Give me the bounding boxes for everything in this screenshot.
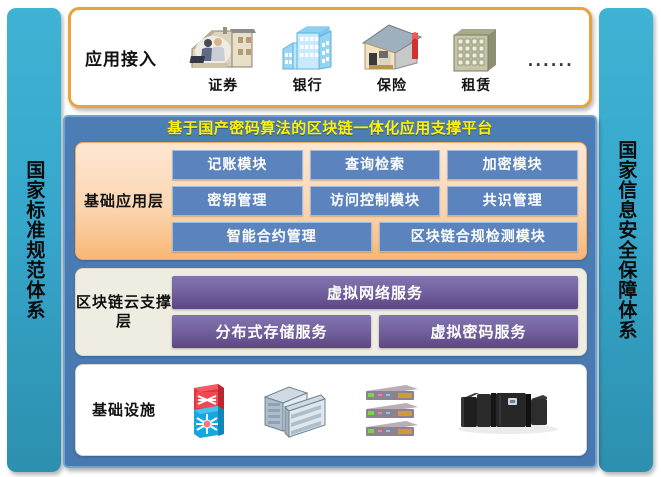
module-query-search[interactable]: 查询检索 bbox=[310, 150, 441, 180]
module-row: 记账模块 查询检索 加密模块 bbox=[172, 150, 578, 180]
layer-basic-application-modules: 记账模块 查询检索 加密模块 密钥管理 访问控制模块 共识管理 智能合约管理 区… bbox=[172, 150, 586, 252]
app-items-ellipsis: ······ bbox=[519, 56, 583, 74]
module-smart-contract-management[interactable]: 智能合约管理 bbox=[172, 222, 372, 252]
application-access-label: 应用接入 bbox=[85, 45, 181, 70]
app-item-securities[interactable]: 证券 bbox=[181, 21, 265, 95]
service-row: 虚拟网络服务 bbox=[172, 276, 578, 309]
module-key-management[interactable]: 密钥管理 bbox=[172, 186, 303, 216]
platform-container: 基于国产密码算法的区块链一体化应用支撑平台 基础应用层 记账模块 查询检索 加密… bbox=[63, 115, 597, 468]
module-accounting[interactable]: 记账模块 bbox=[172, 150, 303, 180]
app-item-label: 保险 bbox=[377, 75, 407, 95]
app-item-label: 租赁 bbox=[461, 75, 491, 95]
insurance-house-icon bbox=[357, 21, 427, 73]
leasing-building-icon bbox=[444, 21, 508, 73]
architecture-diagram: 国家标准规范体系 国家信息安全保障体系 应用接入 bbox=[0, 0, 661, 477]
app-item-label: 证券 bbox=[208, 75, 238, 95]
application-access-card: 应用接入 bbox=[68, 7, 592, 108]
app-item-insurance[interactable]: 保险 bbox=[350, 21, 434, 95]
layer-infrastructure-label: 基础设施 bbox=[76, 401, 172, 420]
sidebar-national-standards: 国家标准规范体系 bbox=[7, 8, 61, 472]
module-blockchain-compliance-detection[interactable]: 区块链合规检测模块 bbox=[379, 222, 579, 252]
module-consensus-management[interactable]: 共识管理 bbox=[447, 186, 578, 216]
layer-blockchain-cloud-support: 区块链云支撑层 虚拟网络服务 分布式存储服务 虚拟密码服务 bbox=[75, 268, 587, 356]
service-virtual-network[interactable]: 虚拟网络服务 bbox=[172, 276, 578, 309]
service-distributed-storage[interactable]: 分布式存储服务 bbox=[172, 315, 371, 348]
service-row: 分布式存储服务 虚拟密码服务 bbox=[172, 315, 578, 348]
sidebar-left-label: 国家标准规范体系 bbox=[7, 8, 61, 472]
app-item-label: 银行 bbox=[293, 75, 323, 95]
stacked-servers-icon bbox=[362, 381, 422, 439]
app-item-bank[interactable]: 银行 bbox=[266, 21, 350, 95]
service-virtual-cryptography[interactable]: 虚拟密码服务 bbox=[379, 315, 578, 348]
sidebar-information-security: 国家信息安全保障体系 bbox=[599, 8, 653, 472]
module-row: 密钥管理 访问控制模块 共识管理 bbox=[172, 186, 578, 216]
app-item-leasing[interactable]: 租赁 bbox=[434, 21, 518, 95]
server-rack-icon bbox=[259, 381, 331, 439]
sidebar-right-label: 国家信息安全保障体系 bbox=[599, 8, 653, 472]
application-access-items: 证券 bbox=[181, 21, 589, 95]
layer-basic-application: 基础应用层 记账模块 查询检索 加密模块 密钥管理 访问控制模块 共识管理 智能… bbox=[75, 142, 587, 260]
layer-blockchain-cloud-support-label: 区块链云支撑层 bbox=[76, 293, 172, 331]
bank-buildings-icon bbox=[273, 21, 343, 73]
network-switch-icon bbox=[188, 380, 228, 440]
layer-cloud-services: 虚拟网络服务 分布式存储服务 虚拟密码服务 bbox=[172, 276, 586, 348]
layer-infrastructure: 基础设施 bbox=[75, 364, 587, 456]
layer-basic-application-label: 基础应用层 bbox=[76, 192, 172, 211]
module-encryption[interactable]: 加密模块 bbox=[447, 150, 578, 180]
layer-infrastructure-icons bbox=[172, 372, 586, 448]
module-row: 智能合约管理 区块链合规检测模块 bbox=[172, 222, 578, 252]
module-access-control[interactable]: 访问控制模块 bbox=[310, 186, 441, 216]
mainframe-cabinet-icon bbox=[453, 385, 563, 435]
platform-title: 基于国产密码算法的区块链一体化应用支撑平台 bbox=[65, 117, 595, 140]
office-house-icon bbox=[186, 21, 260, 73]
